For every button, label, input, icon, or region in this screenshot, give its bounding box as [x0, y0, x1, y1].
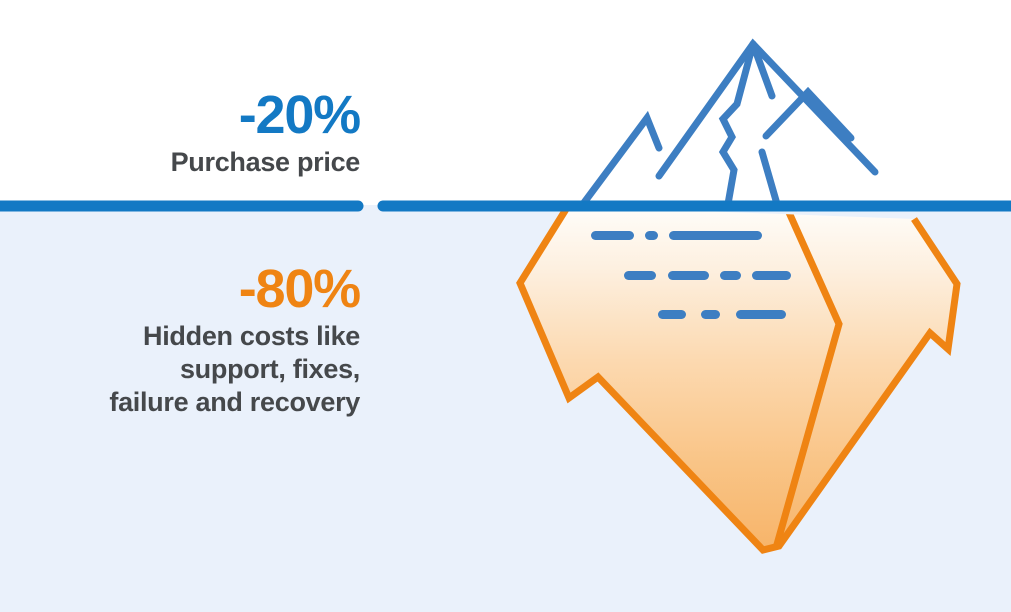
- above-water-text-block: -20% Purchase price: [0, 88, 360, 179]
- caption-line: Purchase price: [0, 146, 360, 179]
- infographic-canvas: -20% Purchase price -80% Hidden costs li…: [0, 0, 1011, 612]
- caption-line: support, fixes,: [0, 353, 360, 386]
- above-water-percent: -20%: [0, 88, 360, 143]
- caption-line: Hidden costs like: [0, 320, 360, 353]
- below-water-text-block: -80% Hidden costs like support, fixes, f…: [0, 262, 360, 419]
- above-water-caption: Purchase price: [0, 143, 360, 179]
- below-water-percent: -80%: [0, 262, 360, 317]
- caption-line: failure and recovery: [0, 386, 360, 419]
- below-water-caption: Hidden costs like support, fixes, failur…: [0, 317, 360, 419]
